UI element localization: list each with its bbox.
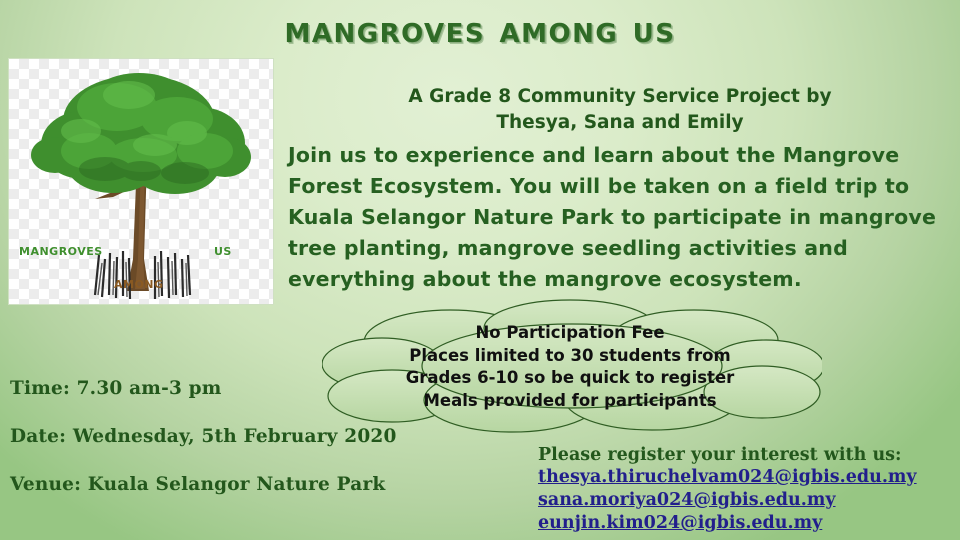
page-title: Mangroves Among Us (0, 8, 960, 51)
email-link-eunjin[interactable]: eunjin.kim024@igbis.edu.my (538, 512, 958, 535)
cloud-line-2: Places limited to 30 students from (370, 345, 770, 368)
detail-venue: Venue: Kuala Selangor Nature Park (10, 474, 430, 495)
detail-time: Time: 7.30 am-3 pm (10, 378, 430, 399)
cloud-line-1: No Participation Fee (370, 322, 770, 345)
mangrove-logo-image: Mangroves Us Among (8, 58, 274, 305)
detail-date: Date: Wednesday, 5th February 2020 (10, 426, 430, 447)
cloud-line-4: Meals provided for participants (370, 390, 770, 413)
email-link-thesya[interactable]: thesya.thiruchelvam024@igbis.edu.my (538, 466, 958, 489)
contact-heading: Please register your interest with us: (538, 444, 958, 466)
email-link-sana[interactable]: sana.moriya024@igbis.edu.my (538, 489, 958, 512)
logo-word-among: Among (114, 274, 164, 292)
cloud-callout-text: No Participation Fee Places limited to 3… (370, 322, 770, 412)
poster-canvas: Mangroves Among Us (0, 0, 960, 540)
subtitle-line-1: A Grade 8 Community Service Project by (300, 84, 940, 110)
logo-word-mangroves: Mangroves (19, 241, 103, 259)
cloud-line-3: Grades 6-10 so be quick to register (370, 367, 770, 390)
body-paragraph: Join us to experience and learn about th… (288, 140, 953, 295)
subtitle-line-2: Thesya, Sana and Emily (300, 110, 940, 136)
logo-word-us: Us (214, 241, 232, 259)
event-details: Time: 7.30 am-3 pm Date: Wednesday, 5th … (10, 378, 430, 522)
project-subtitle: A Grade 8 Community Service Project by T… (300, 84, 940, 136)
contact-block: Please register your interest with us: t… (538, 444, 958, 535)
tree-icon (9, 59, 273, 304)
